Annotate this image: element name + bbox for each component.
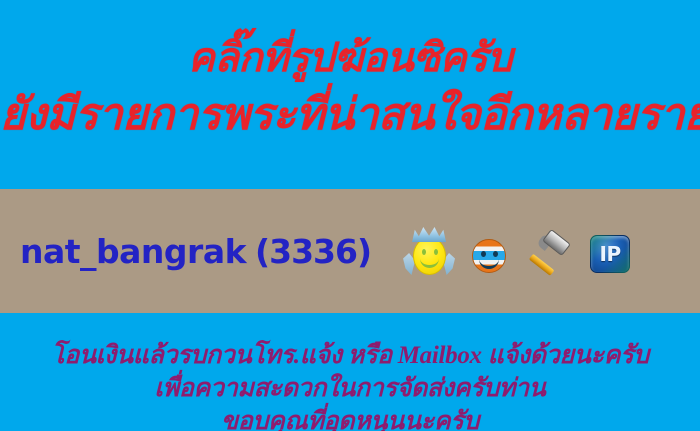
hammer-handle [529,254,555,276]
user-info-bar: nat_bangrak (3336) [0,189,700,313]
seller-signature-banner: คลิ๊กที่รูปฆ้อนซิครับ ยังมีรายการพระที่น… [0,0,700,431]
user-icon-row: IP [403,223,635,279]
username-block[interactable]: nat_bangrak (3336) [20,235,371,268]
username-label[interactable]: nat_bangrak [20,235,246,268]
headline-line-1: คลิ๊กที่รูปฆ้อนซิครับ [0,0,700,78]
ip-badge-label: IP [590,235,630,273]
footnote-line-3: ขอบคุณที่อุดหนุนนะครับ [0,402,700,431]
crown-shape [412,227,446,242]
hammer-icon[interactable] [523,223,575,279]
hammer-head [542,229,571,256]
user-info-bar-content: nat_bangrak (3336) [20,189,688,313]
ip-badge-icon[interactable]: IP [583,223,635,279]
footnote-line-2: เพื่อความสะดวกในการจัดส่งครับท่าน [0,369,700,402]
banded-smiley-icon[interactable] [463,223,515,279]
footnote-block: โอนเงินแล้วรบกวนโทร.แจ้ง หรือ Mailbox แจ… [0,313,700,431]
post-count-label: (3336) [255,235,371,268]
footnote-line-1: โอนเงินแล้วรบกวนโทร.แจ้ง หรือ Mailbox แจ… [0,313,700,369]
headline-line-2: ยังมีรายการพระที่น่าสนใจอีกหลายรายการครั… [0,78,700,138]
crowned-smiley-icon[interactable] [403,223,455,279]
headline-block: คลิ๊กที่รูปฆ้อนซิครับ ยังมีรายการพระที่น… [0,0,700,189]
